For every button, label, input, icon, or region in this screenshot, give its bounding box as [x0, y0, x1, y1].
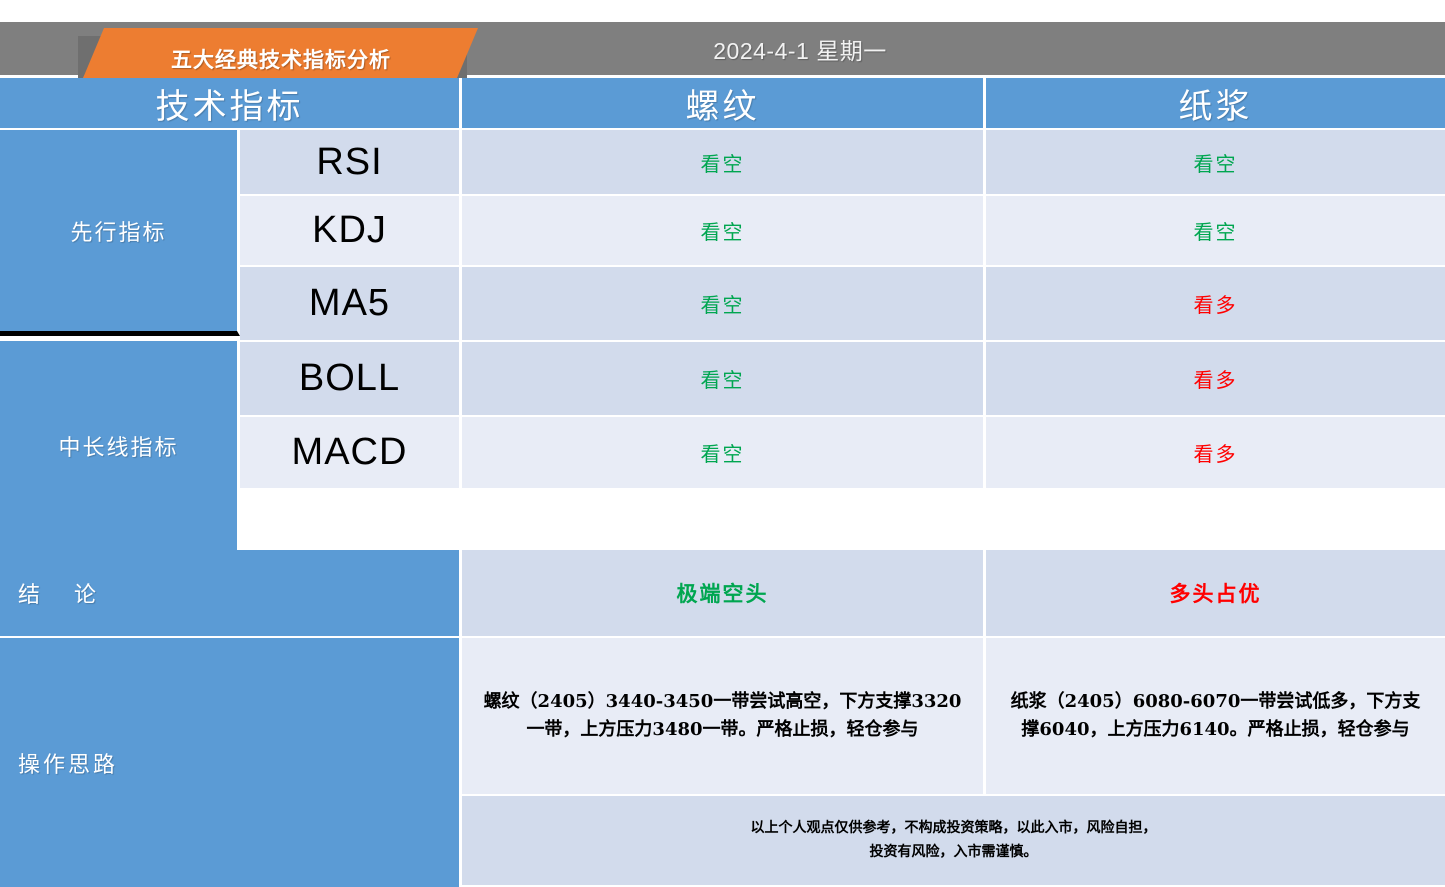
- table-row: MA5 看空 看多: [240, 267, 1445, 342]
- conclusion-row: 结 论 极端空头 多头占优: [0, 550, 1445, 638]
- table-row: BOLL 看空 看多: [240, 342, 1445, 417]
- column-header-luowen: 螺纹: [462, 78, 986, 130]
- strategy-cells: 螺纹（2405）3440-3450一带尝试高空，下方支撑3320一带，上方压力3…: [462, 638, 1445, 796]
- indicator-name-rsi: RSI: [240, 130, 462, 194]
- signal-luowen-rsi: 看空: [462, 130, 986, 194]
- table-body: 先行指标 中长线指标 RSI 看空 看空 KDJ 看空 看空 MA5 看空 看: [0, 130, 1445, 550]
- conclusion-zhijiang: 多头占优: [986, 550, 1445, 636]
- category-midlong-indicators: 中长线指标: [0, 341, 240, 550]
- table-row: KDJ 看空 看空: [240, 196, 1445, 267]
- strategy-label: 操作思路: [0, 638, 462, 887]
- disclaimer: 以上个人观点仅供参考，不构成投资策略，以此入市，风险自担， 投资有风险，入市需谨…: [462, 796, 1445, 885]
- signal-zhijiang-rsi: 看空: [986, 130, 1445, 194]
- strategy-row: 操作思路 螺纹（2405）3440-3450一带尝试高空，下方支撑3320一带，…: [0, 638, 1445, 887]
- indicator-rows: RSI 看空 看空 KDJ 看空 看空 MA5 看空 看多 BOLL 看空: [240, 130, 1445, 550]
- indicator-name-macd: MACD: [240, 417, 462, 488]
- column-header-indicator: 技术指标: [0, 78, 462, 130]
- strategy-luowen: 螺纹（2405）3440-3450一带尝试高空，下方支撑3320一带，上方压力3…: [462, 638, 986, 796]
- slide-root: 五大经典技术指标分析 2024-4-1 星期一 技术指标 螺纹 纸浆 先行指标 …: [0, 0, 1445, 837]
- indicator-name-kdj: KDJ: [240, 196, 462, 265]
- table-row: MACD 看空 看多: [240, 417, 1445, 490]
- category-leading-indicators: 先行指标: [0, 130, 240, 336]
- signal-luowen-macd: 看空: [462, 417, 986, 488]
- conclusion-luowen: 极端空头: [462, 550, 986, 636]
- date-label: 2024-4-1 星期一: [520, 22, 1080, 75]
- signal-zhijiang-macd: 看多: [986, 417, 1445, 488]
- indicator-name-boll: BOLL: [240, 342, 462, 415]
- signal-luowen-boll: 看空: [462, 342, 986, 415]
- strategy-content: 螺纹（2405）3440-3450一带尝试高空，下方支撑3320一带，上方压力3…: [462, 638, 1445, 887]
- category-column: 先行指标 中长线指标: [0, 130, 240, 550]
- signal-zhijiang-boll: 看多: [986, 342, 1445, 415]
- strategy-zhijiang: 纸浆（2405）6080-6070一带尝试低多，下方支撑6040，上方压力614…: [986, 638, 1445, 796]
- table-row: RSI 看空 看空: [240, 130, 1445, 196]
- disclaimer-line-2: 投资有风险，入市需谨慎。: [751, 841, 1157, 865]
- column-header-zhijiang: 纸浆: [986, 78, 1445, 130]
- signal-zhijiang-ma5: 看多: [986, 267, 1445, 340]
- signal-zhijiang-kdj: 看空: [986, 196, 1445, 265]
- table-header-row: 技术指标 螺纹 纸浆: [0, 78, 1445, 130]
- indicator-name-ma5: MA5: [240, 267, 462, 340]
- conclusion-label: 结 论: [0, 550, 462, 636]
- signal-luowen-kdj: 看空: [462, 196, 986, 265]
- signal-luowen-ma5: 看空: [462, 267, 986, 340]
- indicator-table: 技术指标 螺纹 纸浆 先行指标 中长线指标 RSI 看空 看空 KDJ 看空 看…: [0, 78, 1445, 837]
